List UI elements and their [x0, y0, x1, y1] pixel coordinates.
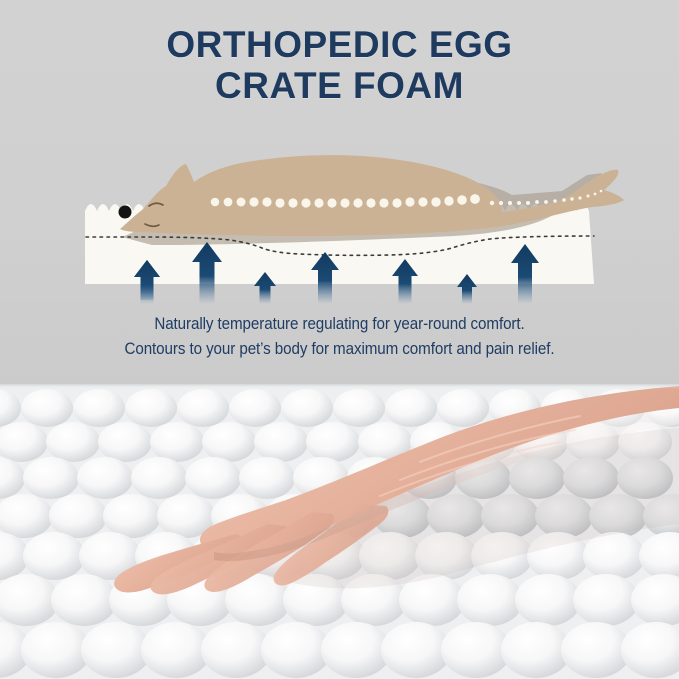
caption-line-1: Naturally temperature regulating for yea… — [27, 312, 652, 337]
title-line-2: CRATE FOAM — [0, 65, 679, 106]
dog-on-foam-mattress-diagram — [0, 124, 679, 304]
hand-pressing-egg-crate-foam-photo — [0, 384, 679, 679]
dog-nose — [119, 206, 132, 219]
product-feature-graphic: ORTHOPEDIC EGG CRATE FOAM — [0, 0, 679, 679]
title-line-1: ORTHOPEDIC EGG — [0, 24, 679, 65]
illustration-panel: ORTHOPEDIC EGG CRATE FOAM — [0, 0, 679, 384]
page-title: ORTHOPEDIC EGG CRATE FOAM — [0, 24, 679, 107]
caption-block: Naturally temperature regulating for yea… — [0, 312, 679, 362]
caption-line-2: Contours to your pet’s body for maximum … — [27, 337, 652, 362]
